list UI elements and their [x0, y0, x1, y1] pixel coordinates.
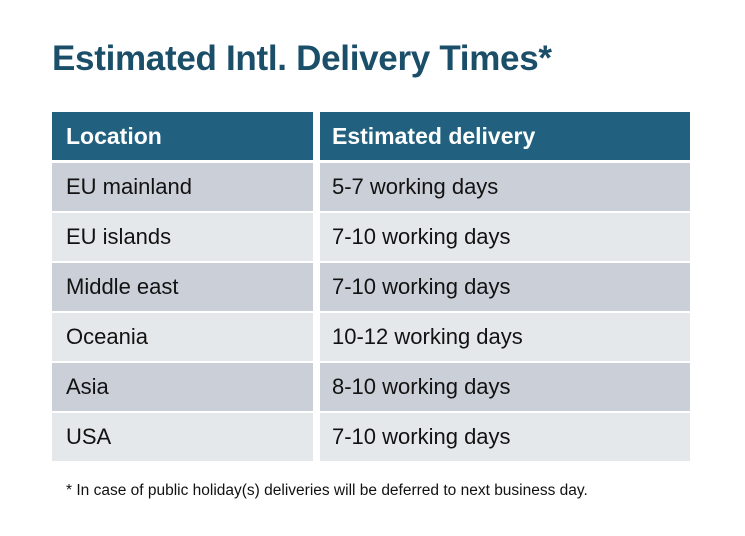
- cell-location: USA: [52, 413, 313, 461]
- cell-estimated-delivery: 7-10 working days: [320, 263, 690, 311]
- table-row: USA 7-10 working days: [52, 413, 690, 461]
- cell-location: Asia: [52, 363, 313, 411]
- table-row: Asia 8-10 working days: [52, 363, 690, 411]
- table-row: Oceania 10-12 working days: [52, 313, 690, 361]
- column-header-estimated-delivery: Estimated delivery: [320, 112, 690, 160]
- cell-location: Oceania: [52, 313, 313, 361]
- cell-estimated-delivery: 7-10 working days: [320, 413, 690, 461]
- cell-estimated-delivery: 10-12 working days: [320, 313, 690, 361]
- table-row: Middle east 7-10 working days: [52, 263, 690, 311]
- cell-location: EU islands: [52, 213, 313, 261]
- cell-estimated-delivery: 5-7 working days: [320, 163, 690, 211]
- delivery-times-table: Location Estimated delivery EU mainland …: [52, 112, 690, 461]
- cell-estimated-delivery: 7-10 working days: [320, 213, 690, 261]
- page-title: Estimated Intl. Delivery Times*: [52, 38, 552, 80]
- column-header-location: Location: [52, 112, 313, 160]
- table-header-row: Location Estimated delivery: [52, 112, 690, 160]
- cell-location: Middle east: [52, 263, 313, 311]
- cell-estimated-delivery: 8-10 working days: [320, 363, 690, 411]
- delivery-times-page: Estimated Intl. Delivery Times* Location…: [0, 0, 745, 536]
- table-row: EU islands 7-10 working days: [52, 213, 690, 261]
- cell-location: EU mainland: [52, 163, 313, 211]
- table-row: EU mainland 5-7 working days: [52, 163, 690, 211]
- footnote: * In case of public holiday(s) deliverie…: [66, 481, 588, 501]
